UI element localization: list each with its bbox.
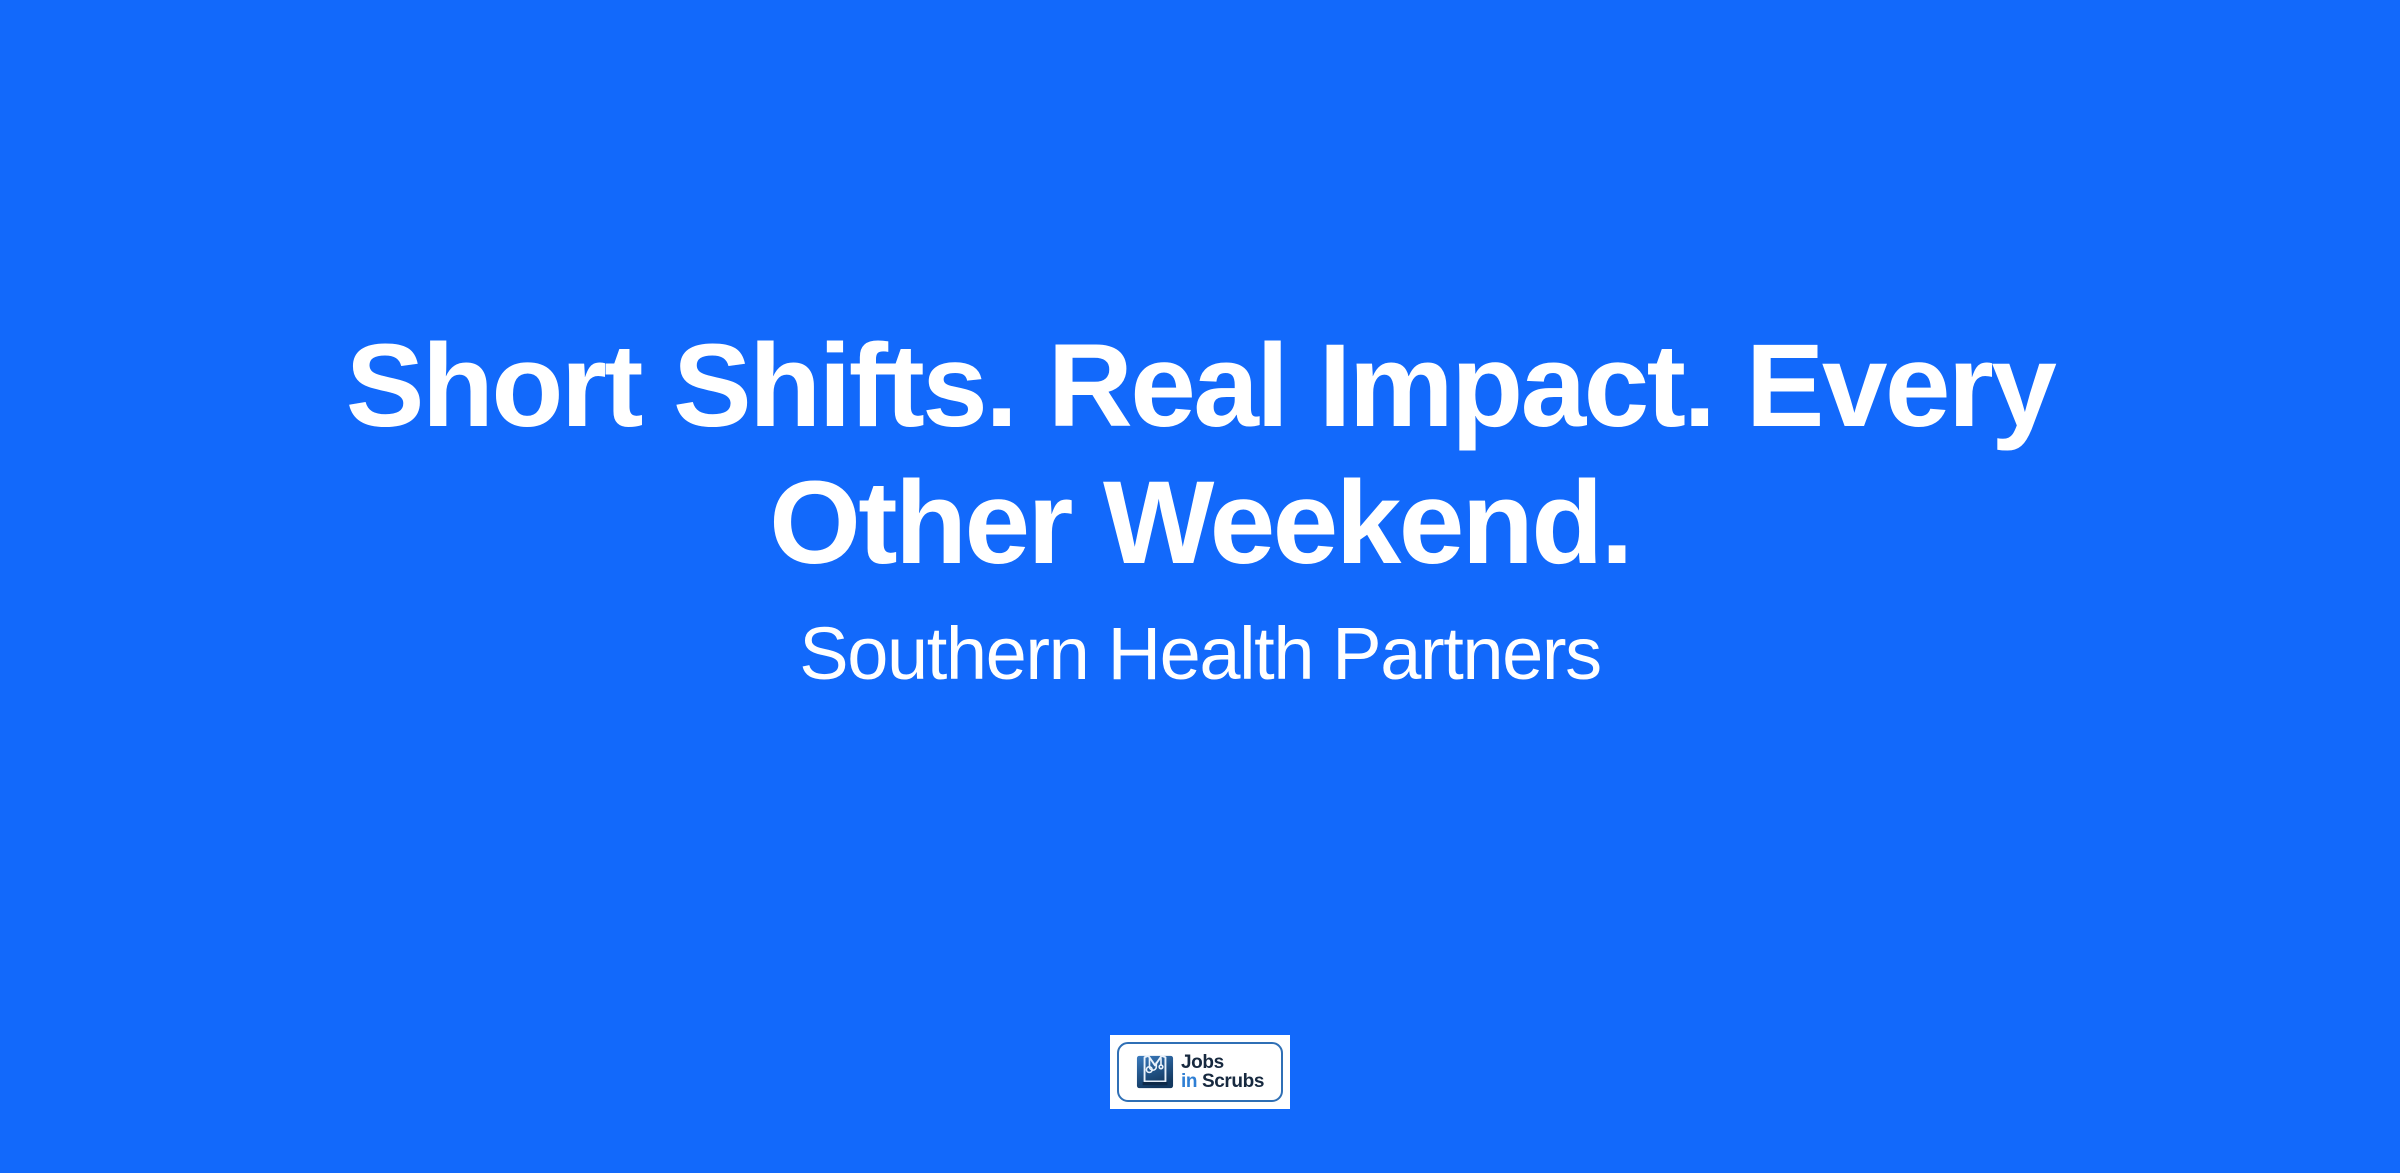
logo-badge[interactable]: Jobs in Scrubs <box>1110 1035 1290 1109</box>
logo-word-jobs: Jobs <box>1181 1053 1264 1072</box>
logo-wordmark: Jobs in Scrubs <box>1181 1053 1264 1092</box>
headline-block: Short Shifts. Real Impact. Every Other W… <box>0 0 2400 1000</box>
promo-slide: Short Shifts. Real Impact. Every Other W… <box>0 0 2400 1173</box>
logo-border-frame: Jobs in Scrubs <box>1117 1042 1283 1102</box>
scrub-top-stethoscope-icon <box>1136 1053 1174 1091</box>
logo-word-scrubs: Scrubs <box>1202 1071 1264 1092</box>
subtitle-company-name: Southern Health Partners <box>799 610 1600 699</box>
page-title: Short Shifts. Real Impact. Every Other W… <box>330 318 2070 592</box>
logo-word-in-scrubs: in Scrubs <box>1181 1072 1264 1091</box>
logo-plate: Jobs in Scrubs <box>1110 1035 1290 1109</box>
logo-word-in: in <box>1181 1071 1197 1092</box>
